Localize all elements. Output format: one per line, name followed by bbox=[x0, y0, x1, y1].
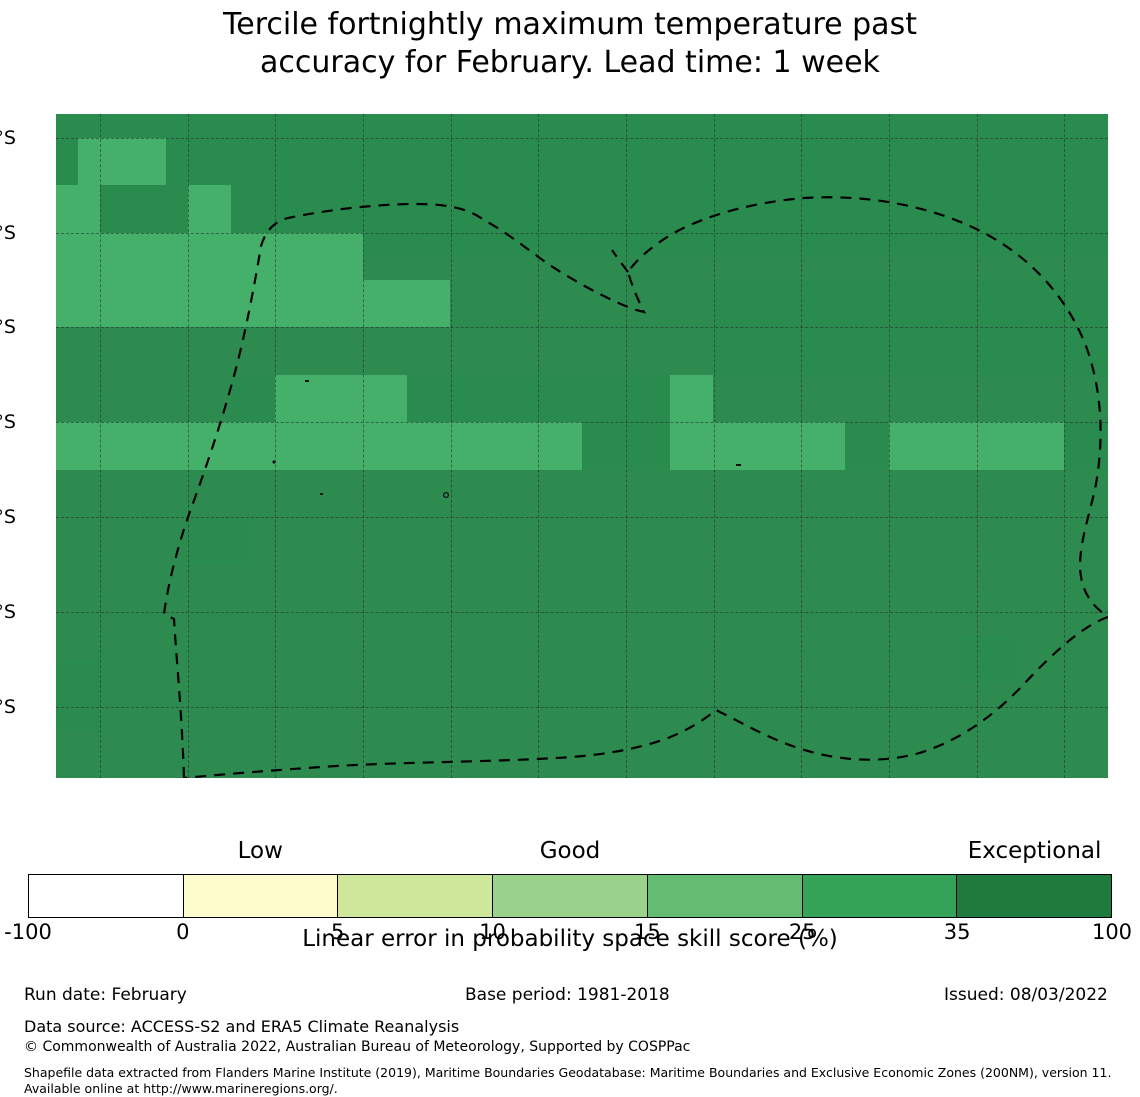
run-date-text: Run date: February bbox=[24, 985, 187, 1005]
colorbar-quality-labels: LowGoodExceptional bbox=[28, 838, 1112, 866]
heatmap-plot-area bbox=[56, 114, 1108, 778]
colorbar-segment bbox=[957, 875, 1111, 917]
issued-date-text: Issued: 08/03/2022 bbox=[944, 985, 1108, 1005]
y-axis-tick-label: 23°S bbox=[0, 318, 16, 337]
colorbar-quality-label: Exceptional bbox=[968, 838, 1102, 864]
shapefile-attribution-text: Shapefile data extracted from Flanders M… bbox=[24, 1065, 1128, 1097]
colorbar-axis-label: Linear error in probability space skill … bbox=[0, 926, 1140, 953]
eez-boundary-line bbox=[56, 114, 1108, 778]
colorbar-gradient bbox=[28, 874, 1112, 918]
colorbar-segment bbox=[29, 875, 184, 917]
colorbar-quality-label: Low bbox=[238, 838, 283, 864]
colorbar-segment bbox=[648, 875, 803, 917]
colorbar-segment bbox=[338, 875, 493, 917]
data-source-text: Data source: ACCESS-S2 and ERA5 Climate … bbox=[24, 1017, 459, 1036]
base-period-text: Base period: 1981-2018 bbox=[465, 985, 670, 1005]
y-axis-tick-label: 26°S bbox=[0, 603, 16, 622]
y-axis-tick-label: 25°S bbox=[0, 508, 16, 527]
y-axis-tick-label: 27°S bbox=[0, 698, 16, 717]
copyright-text: © Commonwealth of Australia 2022, Austra… bbox=[24, 1039, 690, 1056]
y-axis-tick-label: 24°S bbox=[0, 413, 16, 432]
colorbar-segment bbox=[493, 875, 648, 917]
colorbar-segment bbox=[803, 875, 958, 917]
page-title: Tercile fortnightly maximum temperature … bbox=[0, 6, 1140, 82]
colorbar-segment bbox=[184, 875, 339, 917]
map-figure: 21°S22°S23°S24°S25°S26°S27°S 133°W132°W1… bbox=[56, 114, 1108, 778]
colorbar-quality-label: Good bbox=[540, 838, 601, 864]
y-axis-tick-label: 22°S bbox=[0, 224, 16, 243]
y-axis-tick-label: 21°S bbox=[0, 129, 16, 148]
